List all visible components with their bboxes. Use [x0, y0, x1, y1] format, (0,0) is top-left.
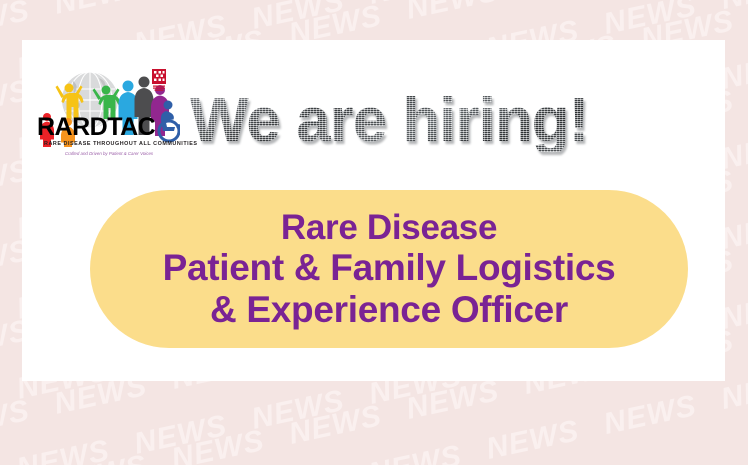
- logo-subtagline: Crafted and Driven by Patient & Carer Vo…: [44, 151, 174, 156]
- headline-we-are-hiring: We are hiring!: [190, 90, 725, 152]
- job-title-pill: Rare Disease Patient & Family Logistics …: [90, 190, 688, 348]
- job-title-line-2: Patient & Family Logistics: [163, 247, 616, 288]
- logo-tagline: RARE DISEASE THROUGHOUT ALL COMMUNITIES: [44, 141, 174, 147]
- job-title-line-1: Rare Disease: [281, 208, 497, 247]
- poster-card: RARDTAC: [22, 40, 725, 381]
- rardtac-wordmark: RARDTAC: [37, 113, 156, 141]
- job-title-line-3: & Experience Officer: [210, 289, 568, 330]
- poster-header: RARDTAC: [22, 62, 725, 180]
- rardtac-logo: RARDTAC: [30, 69, 180, 173]
- rardtac-logo-graphic: RARDTAC: [30, 69, 180, 147]
